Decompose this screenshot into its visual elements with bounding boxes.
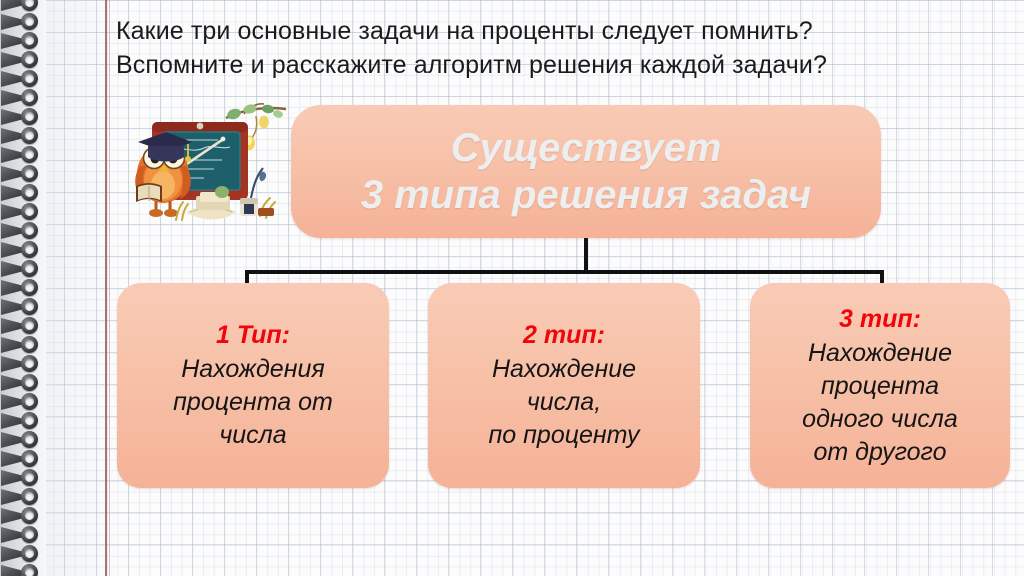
spiral-coil	[0, 298, 44, 317]
spiral-punch-hole	[25, 93, 34, 102]
spiral-coil	[0, 488, 44, 507]
spiral-coil	[0, 241, 44, 260]
type-box-1-body: Нахождения процента от числа	[173, 353, 333, 452]
spiral-punch-hole	[25, 283, 34, 292]
spiral-coil	[0, 507, 44, 526]
spiral-punch-hole	[25, 340, 34, 349]
spiral-coil	[0, 0, 44, 13]
type-box-2-content: 2 тип: Нахождение числа, по проценту	[479, 319, 650, 452]
spiral-punch-hole	[25, 302, 34, 311]
spiral-punch-hole	[25, 74, 34, 83]
spiral-punch-hole	[25, 492, 34, 501]
spiral-punch-hole	[25, 378, 34, 387]
spiral-punch-hole	[25, 530, 34, 539]
spiral-coil	[0, 127, 44, 146]
type-box-2-body: Нахождение числа, по проценту	[489, 353, 640, 452]
spiral-punch-hole	[25, 169, 34, 178]
spiral-punch-hole	[25, 511, 34, 520]
spiral-punch-hole	[25, 416, 34, 425]
spiral-punch-hole	[25, 207, 34, 216]
spiral-punch-hole	[25, 549, 34, 558]
spiral-punch-hole	[25, 55, 34, 64]
spiral-punch-hole	[25, 454, 34, 463]
spiral-punch-hole	[25, 321, 34, 330]
page-title: Какие три основные задачи на проценты сл…	[116, 14, 1006, 82]
type-box-3-body: Нахождение процента одного числа от друг…	[802, 337, 958, 469]
spiral-coil	[0, 203, 44, 222]
spiral-punch-hole	[25, 397, 34, 406]
spiral-punch-hole	[25, 131, 34, 140]
type-box-1-title: 1 Тип:	[173, 319, 333, 351]
heading-line-2: Вспомните и расскажите алгоритм решения …	[116, 48, 1006, 82]
margin-rule-line	[105, 0, 107, 576]
main-statement-text: Существует 3 типа решения задач	[361, 125, 811, 219]
spiral-coil	[0, 184, 44, 203]
spiral-punch-hole	[25, 150, 34, 159]
spiral-coil	[0, 222, 44, 241]
type-box-2-title: 2 тип:	[489, 319, 640, 351]
type-box-1-content: 1 Тип: Нахождения процента от числа	[163, 319, 343, 452]
spiral-coil	[0, 51, 44, 70]
spiral-coil	[0, 431, 44, 450]
spiral-coil	[0, 279, 44, 298]
spiral-punch-hole	[25, 435, 34, 444]
spiral-coil	[0, 89, 44, 108]
connector-stem-vertical	[584, 238, 588, 273]
spiral-punch-hole	[25, 36, 34, 45]
spiral-binding	[0, 0, 46, 576]
spiral-coil	[0, 355, 44, 374]
spiral-coil	[0, 108, 44, 127]
spiral-coil	[0, 450, 44, 469]
spiral-coil	[0, 146, 44, 165]
spiral-coil	[0, 412, 44, 431]
spiral-coil	[0, 374, 44, 393]
spiral-coil	[0, 336, 44, 355]
type-box-2: 2 тип: Нахождение числа, по проценту	[428, 283, 700, 488]
slide-canvas: Какие три основные задачи на проценты сл…	[0, 0, 1024, 576]
main-statement-box: Существует 3 типа решения задач	[291, 105, 881, 238]
spiral-coil	[0, 393, 44, 412]
spiral-punch-hole	[25, 112, 34, 121]
spiral-punch-hole	[25, 245, 34, 254]
heading-line-1: Какие три основные задачи на проценты сл…	[116, 14, 1006, 48]
owl-teacher-icon	[118, 100, 298, 250]
spiral-coil	[0, 165, 44, 184]
spiral-coil	[0, 526, 44, 545]
main-statement-line-1: Существует	[361, 125, 811, 172]
spiral-punch-hole	[25, 473, 34, 482]
connector-horizontal-bar	[245, 270, 884, 274]
spiral-coil	[0, 13, 44, 32]
type-box-3-title: 3 тип:	[802, 303, 958, 335]
owl-teacher-illustration	[118, 100, 298, 250]
margin-rule-line-secondary	[109, 0, 110, 576]
spiral-coil	[0, 32, 44, 51]
spiral-coil	[0, 260, 44, 279]
spiral-punch-hole	[25, 359, 34, 368]
spiral-coil	[0, 469, 44, 488]
spiral-coil	[0, 545, 44, 564]
spiral-coil	[0, 317, 44, 336]
spiral-coil	[0, 564, 44, 576]
type-box-1: 1 Тип: Нахождения процента от числа	[117, 283, 389, 488]
spiral-punch-hole	[25, 17, 34, 26]
spiral-punch-hole	[25, 188, 34, 197]
type-box-3-content: 3 тип: Нахождение процента одного числа …	[792, 303, 968, 469]
spiral-coil	[0, 70, 44, 89]
spiral-punch-hole	[25, 264, 34, 273]
main-statement-line-2: 3 типа решения задач	[361, 172, 811, 219]
spiral-punch-hole	[25, 226, 34, 235]
type-box-3: 3 тип: Нахождение процента одного числа …	[750, 283, 1010, 488]
spiral-punch-hole	[25, 568, 34, 576]
